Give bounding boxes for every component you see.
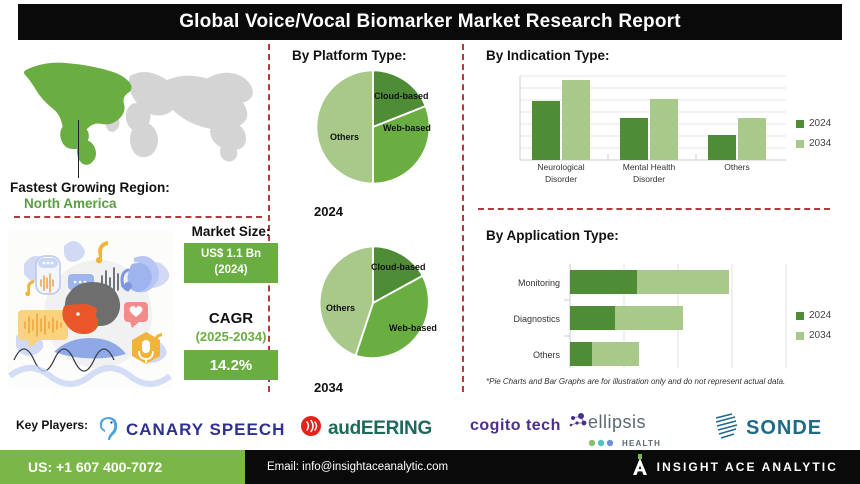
indication-legend: 2024 2034 <box>796 118 831 158</box>
legend-item-app-2024: 2024 <box>796 310 831 321</box>
svg-text:Others: Others <box>724 162 750 172</box>
pie-2024-year: 2024 <box>314 204 343 219</box>
key-players-label: Key Players: <box>16 418 88 432</box>
chart-footnote: *Pie Charts and Bar Graphs are for illus… <box>486 377 785 386</box>
cagr-value: 14.2% <box>210 357 253 374</box>
footer-phone-block: US: +1 607 400-7072 <box>0 450 245 484</box>
infographic-sheet: Global Voice/Vocal Biomarker Market Rese… <box>0 0 860 484</box>
voice-biomarker-illustration <box>6 228 176 390</box>
cagr-value-box: 14.2% <box>184 350 278 380</box>
footer-bar: US: +1 607 400-7072 Email: info@insighta… <box>0 450 860 484</box>
logo-text-audeering: audEERING <box>328 418 432 440</box>
footer-brand-name: INSIGHT ACE ANALYTIC <box>657 460 838 474</box>
divider-horizontal-right <box>478 208 830 210</box>
legend-item-2024: 2024 <box>796 118 831 129</box>
logo-canary-speech[interactable]: CANARY SPEECH <box>98 414 285 445</box>
pie-2034-year: 2034 <box>314 380 343 395</box>
logo-text-health: HEALTH <box>622 439 661 448</box>
application-section-title: By Application Type: <box>486 228 619 243</box>
legend-label-2034: 2034 <box>809 138 831 149</box>
market-size-value-box: US$ 1.1 Bn (2024) <box>184 243 278 283</box>
svg-text:Disorder: Disorder <box>545 174 577 184</box>
legend-swatch-app-2024 <box>796 312 804 320</box>
map-pointer-line <box>78 120 79 178</box>
logo-text-cogito-tech: cogito tech <box>470 417 561 435</box>
application-bar-chart: Monitoring Diagnostics Others <box>486 258 816 370</box>
footer-email[interactable]: Email: info@insightaceanalytic.com <box>267 461 448 473</box>
svg-text:Monitoring: Monitoring <box>518 278 560 288</box>
cagr-years: (2025-2034) <box>176 329 286 344</box>
diagonal-lines-icon <box>712 412 740 445</box>
indication-bar-chart <box>500 68 790 168</box>
market-size-value: US$ 1.1 Bn <box>201 247 261 263</box>
platform-section-title: By Platform Type: <box>292 48 407 63</box>
logo-text-canary-speech: CANARY SPEECH <box>126 420 285 440</box>
indication-section-title: By Indication Type: <box>486 48 610 63</box>
fastest-region-value: North America <box>24 196 274 211</box>
cagr-label: CAGR <box>176 310 286 327</box>
pie-2034-label-cloud: Cloud-based <box>371 262 426 272</box>
divider-vertical-right <box>462 44 464 392</box>
sound-wave-circle-icon <box>300 415 322 442</box>
divider-horizontal-left <box>14 216 262 218</box>
network-dots-icon <box>565 412 587 439</box>
legend-swatch-2024 <box>796 120 804 128</box>
pie-2024-label-cloud: Cloud-based <box>374 91 429 101</box>
logo-cogito-tech[interactable]: cogito tech <box>470 412 587 439</box>
svg-text:Others: Others <box>533 350 561 360</box>
market-size-year: (2024) <box>214 263 247 279</box>
indication-category-labels: Neurological Disorder Mental Health Diso… <box>500 160 790 194</box>
legend-label-2024: 2024 <box>809 118 831 129</box>
pie-2034-label-others: Others <box>326 303 355 313</box>
pie-2034-label-web: Web-based <box>389 323 437 333</box>
page-title: Global Voice/Vocal Biomarker Market Rese… <box>179 11 681 33</box>
logo-audeering[interactable]: audEERING <box>300 415 432 442</box>
svg-text:Diagnostics: Diagnostics <box>513 314 560 324</box>
application-legend: 2024 2034 <box>796 310 831 350</box>
pie-2024-label-web: Web-based <box>383 123 431 133</box>
svg-text:Mental Health: Mental Health <box>623 162 676 172</box>
world-map <box>12 48 262 178</box>
report-header: Global Voice/Vocal Biomarker Market Rese… <box>18 4 842 40</box>
legend-swatch-2034 <box>796 140 804 148</box>
legend-item-app-2034: 2034 <box>796 330 831 341</box>
legend-swatch-app-2034 <box>796 332 804 340</box>
insight-ace-logo-icon <box>632 454 648 481</box>
legend-label-app-2024: 2024 <box>809 310 831 321</box>
bird-icon <box>98 414 120 445</box>
svg-text:Disorder: Disorder <box>633 174 665 184</box>
logo-ellipsis-health[interactable]: ellipsis HEALTH <box>588 412 661 452</box>
footer-brand: INSIGHT ACE ANALYTIC <box>632 454 838 481</box>
legend-item-2034: 2034 <box>796 138 831 149</box>
logo-text-ellipsis: ellipsis <box>588 412 646 433</box>
legend-label-app-2034: 2034 <box>809 330 831 341</box>
key-players-row: Key Players: CANARY SPEECH <box>0 404 860 448</box>
market-size-label: Market Size: <box>176 224 286 239</box>
footer-info-block: Email: info@insightaceanalytic.com INSIG… <box>245 450 860 484</box>
logo-sonde[interactable]: SONDE <box>712 412 822 445</box>
pie-2024-label-others: Others <box>330 132 359 142</box>
fastest-region-label: Fastest Growing Region: <box>10 180 260 195</box>
footer-phone[interactable]: US: +1 607 400-7072 <box>28 459 162 475</box>
svg-text:Neurological: Neurological <box>537 162 584 172</box>
logo-text-sonde: SONDE <box>746 417 822 440</box>
